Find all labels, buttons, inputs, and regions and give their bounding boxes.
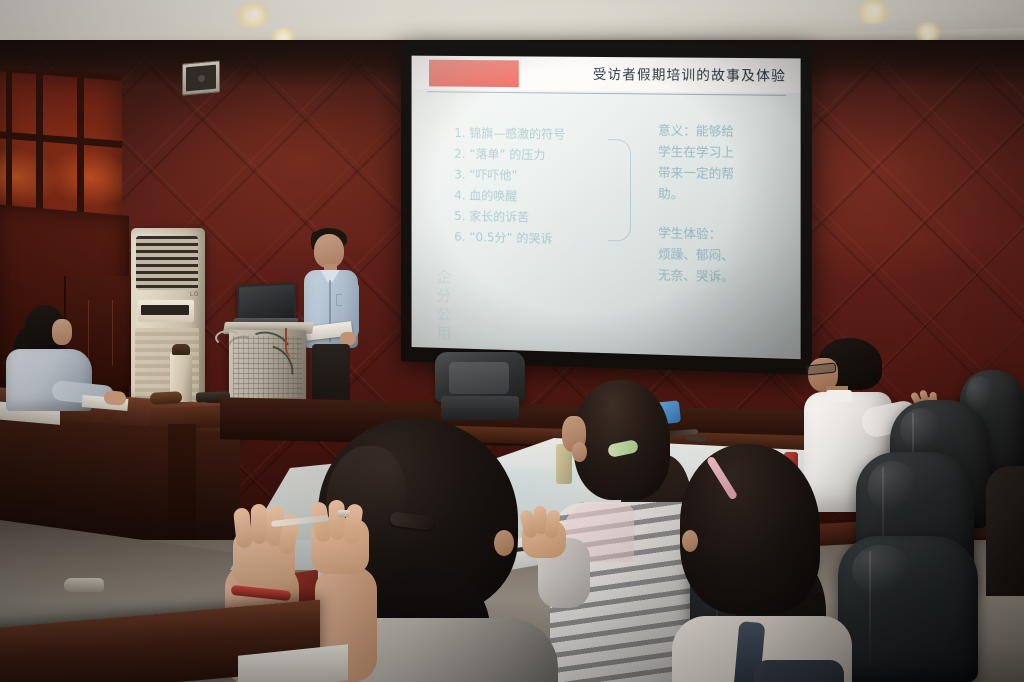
girl-ear [682, 530, 698, 552]
slide-header: 受访者假期培训的故事及体验 [412, 56, 801, 93]
ac-louvers [136, 236, 198, 290]
chair-highlight [900, 408, 942, 452]
partial-person-edge [986, 466, 1024, 596]
wall-speaker-icon [182, 60, 220, 95]
seated-woman-left [4, 305, 124, 410]
girl-ear [494, 530, 514, 556]
slide-brace [608, 139, 631, 242]
projection-screen: 受访者假期培训的故事及体验 1. 锦旗—感激的符号 2. “落单” 的压力 3.… [412, 56, 801, 360]
ac-brand-mark: LG [190, 292, 199, 298]
ac-display [141, 305, 189, 315]
backpack [754, 660, 844, 682]
leather-chair [838, 536, 978, 682]
gavel [150, 391, 183, 405]
chair-seat [441, 396, 519, 420]
slide-meaning-line: 带来一定的帮 [658, 162, 790, 185]
girl-hair [574, 380, 670, 500]
white-shoe [64, 578, 104, 592]
watermark-char: 用 [437, 324, 452, 343]
air-conditioner-unit: LG [131, 228, 205, 410]
finger [251, 504, 268, 544]
slide-accent-block [429, 60, 519, 87]
slide-experience-line: 学生体验： [658, 222, 790, 246]
watermark-char: 企 [437, 268, 452, 287]
woman-face [52, 319, 72, 345]
slide-right-column: 意义：能够给 学生在学习上 带来一定的帮 助。 学生体验： 烦躁、郁闷、 无奈、… [658, 120, 790, 289]
watermark-char: 分 [437, 287, 452, 306]
slide-title: 受访者假期培训的故事及体验 [593, 63, 786, 85]
chair-highlight [868, 461, 918, 512]
downlight-core [866, 4, 883, 15]
slide-meaning-block: 意义：能够给 学生在学习上 带来一定的帮 助。 [658, 120, 790, 207]
slide-meaning-line: 助。 [658, 183, 790, 207]
red-cord [285, 328, 301, 358]
slide-experience-block: 学生体验： 烦躁、郁闷、 无奈、哭诉。 [658, 222, 790, 289]
thermos-cap [172, 344, 190, 355]
slide-meaning-line: 意义：能够给 [658, 120, 790, 143]
conference-room-photo: LG 受访者假期培训的故事及体验 1. 锦旗—感激的符号 2. “落单” 的压力… [0, 0, 1024, 682]
downlight-core [247, 8, 263, 19]
slide-meaning-line: 学生在学习上 [658, 141, 790, 164]
downlight-core [920, 26, 934, 36]
slide-body: 1. 锦旗—感激的符号 2. “落单” 的压力 3. “吓吓他” 4. 血的唤醒… [412, 95, 801, 359]
chair-highlight [852, 545, 911, 595]
projection-screen-frame: 受访者假期培训的故事及体验 1. 锦旗—感激的符号 2. “落单” 的压力 3.… [401, 42, 812, 375]
presenter-head [314, 234, 344, 268]
presenter-standing [300, 228, 364, 410]
finger-ring [337, 510, 350, 517]
chair-cushion [449, 362, 509, 394]
girl-pink-hairband [680, 444, 850, 682]
man-collar [826, 390, 852, 402]
watermark-char: 公 [437, 305, 452, 324]
woman-hand [103, 390, 126, 406]
empty-executive-chair [435, 352, 525, 422]
slide-watermark: 企 分 公 用 [437, 268, 452, 343]
girl-hair [680, 444, 820, 614]
slide-experience-line: 无奈、哭诉。 [658, 264, 790, 288]
girl-ear [572, 442, 587, 462]
